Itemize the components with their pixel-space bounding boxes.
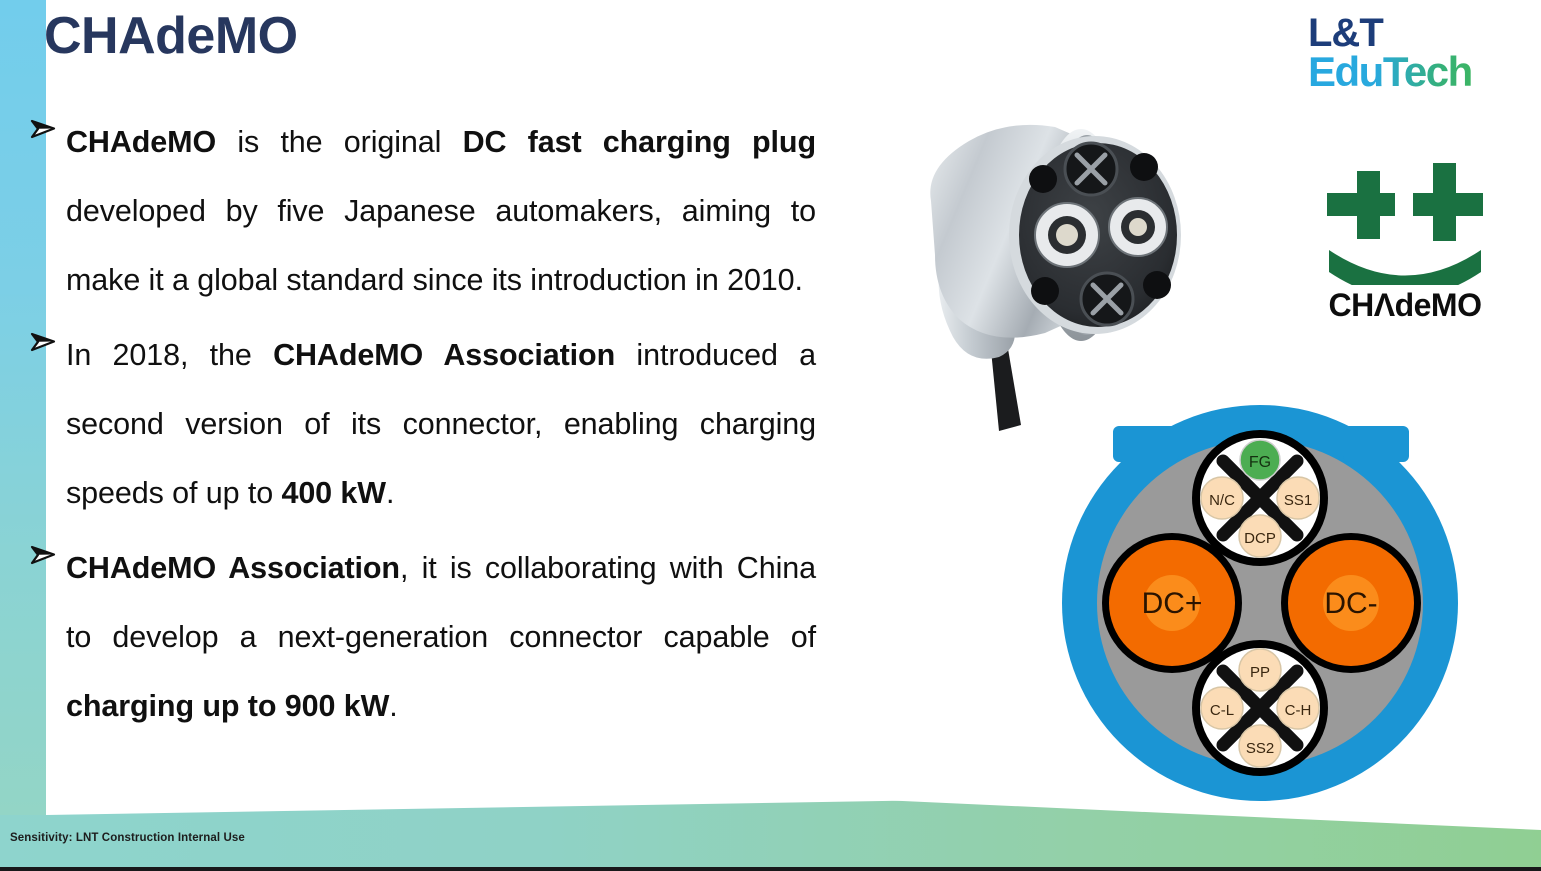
pinout-bottom-well: PP C-L C-H SS2 [1192, 640, 1328, 776]
pin-label: DCP [1244, 530, 1276, 547]
chademo-connector-photo [895, 95, 1215, 435]
page-title: CHAdeMO [44, 8, 298, 65]
sensitivity-label: Sensitivity: LNT Construction Internal U… [10, 832, 245, 844]
arrow-bullet-icon [28, 327, 58, 357]
pin-label: C-H [1285, 702, 1312, 719]
edutech-wordmark: EduTech [1308, 52, 1508, 92]
pin-label: PP [1250, 664, 1270, 681]
pin-dc-plus: DC+ [1102, 533, 1242, 673]
bullet-list: CHAdeMO is the original DC fast charging… [16, 108, 816, 747]
chademo-smiley-icon [1315, 155, 1495, 285]
lnt-wordmark: L&T [1308, 14, 1508, 52]
pin-label: N/C [1209, 492, 1235, 509]
list-item: CHAdeMO Association, it is collaborating… [16, 534, 816, 741]
bullet-text: CHAdeMO is the original DC fast charging… [66, 108, 816, 315]
slide-canvas: CHAdeMO CHAdeMO is the original DC fast … [0, 0, 1541, 871]
list-item: CHAdeMO is the original DC fast charging… [16, 108, 816, 315]
arrow-bullet-icon [28, 540, 58, 570]
pinout-top-well: FG N/C SS1 DCP [1192, 430, 1328, 566]
chademo-brand-logo: CHΛdeMO [1305, 155, 1505, 324]
bullet-text: CHAdeMO Association, it is collaborating… [66, 534, 816, 741]
pin-label: C-L [1210, 702, 1234, 719]
pin-label: FG [1249, 454, 1271, 471]
chademo-pinout-diagram: DC+ DC- FG N/C SS1 DCP [1055, 398, 1465, 808]
pin-label: DC- [1324, 587, 1377, 620]
chademo-wordmark: CHΛdeMO [1305, 287, 1505, 324]
bottom-rule [0, 867, 1541, 871]
lnt-edutech-logo: L&T EduTech [1308, 14, 1508, 92]
list-item: In 2018, the CHAdeMO Association introdu… [16, 321, 816, 528]
arrow-bullet-icon [28, 114, 58, 144]
pin-label: SS1 [1284, 492, 1312, 509]
pin-dc-minus: DC- [1281, 533, 1421, 673]
pin-label: DC+ [1142, 587, 1203, 620]
bullet-text: In 2018, the CHAdeMO Association introdu… [66, 321, 816, 528]
pin-label: SS2 [1246, 740, 1274, 757]
